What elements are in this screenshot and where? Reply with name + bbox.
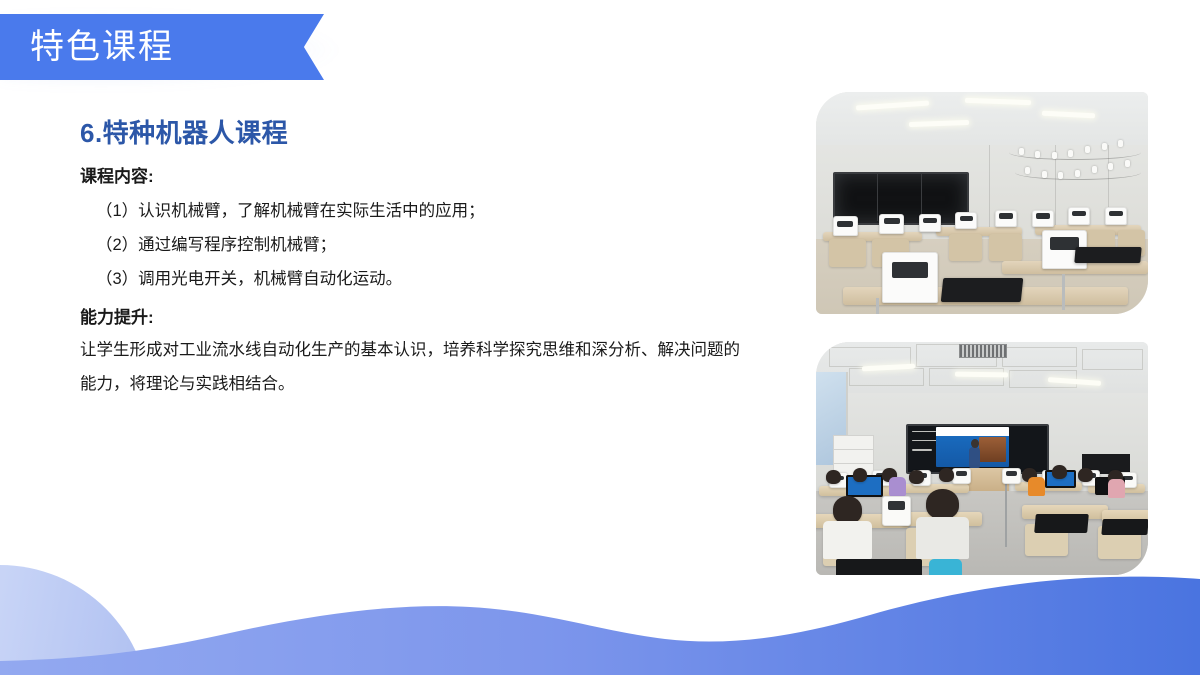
classroom-illustration-2 [816, 342, 1148, 575]
student-head [909, 470, 924, 484]
student-head [1078, 468, 1093, 482]
chair [949, 234, 982, 261]
laptop [1074, 247, 1142, 263]
photo-empty-robotics-classroom [816, 92, 1148, 314]
garland-figure [1058, 172, 1063, 179]
student-body-foreground [929, 559, 962, 575]
list-item: （1）认识机械臂，了解机械臂在实际生活中的应用； [80, 195, 760, 229]
content-label: 课程内容: [80, 165, 760, 189]
garland-figure [1125, 160, 1130, 167]
desk-leg [876, 298, 879, 314]
laptop [836, 559, 922, 575]
banner-title: 特色课程 [30, 30, 174, 64]
ability-label: 能力提升: [80, 306, 760, 330]
bottom-left-blob [0, 565, 150, 675]
garland-figure [1102, 143, 1107, 150]
student-head [853, 468, 868, 482]
robot-arm [919, 214, 941, 232]
robot-arm [952, 468, 971, 484]
student-head [826, 470, 841, 484]
chair [829, 239, 866, 268]
garland-figure [1019, 148, 1024, 155]
screen-image [979, 437, 1005, 462]
garland-figure [1075, 170, 1080, 177]
garland-figure [1085, 146, 1090, 153]
slide-root: 特色课程 6.特种机器人课程 课程内容: （1）认识机械臂，了解机械臂在实际生活… [0, 0, 1200, 675]
laptop [1034, 514, 1089, 533]
screen-header [936, 427, 1009, 436]
classroom-illustration-1 [816, 92, 1148, 314]
student-body [889, 477, 906, 496]
student-head-foreground [926, 489, 959, 519]
course-heading: 6.特种机器人课程 [80, 118, 760, 149]
garland-figure [1025, 167, 1030, 174]
student-body [1108, 479, 1125, 498]
garland-figure [1092, 166, 1097, 173]
laptop [941, 278, 1023, 302]
board-split [877, 172, 878, 221]
content-column: 6.特种机器人课程 课程内容: （1）认识机械臂，了解机械臂在实际生活中的应用；… [80, 118, 760, 402]
student-body-foreground [916, 517, 969, 559]
robot-arm [833, 216, 858, 236]
robot-arm [1068, 207, 1090, 225]
robot-arm [1002, 468, 1021, 484]
garland-figure [1118, 140, 1123, 147]
course-content-list: （1）认识机械臂，了解机械臂在实际生活中的应用； （2）通过编写程序控制机械臂；… [80, 195, 760, 296]
student-head [1052, 465, 1067, 479]
garland-figure [1068, 150, 1073, 157]
list-item: （2）通过编写程序控制机械臂； [80, 229, 760, 263]
student-body-foreground [823, 521, 873, 558]
robot-arm [955, 212, 977, 230]
ceiling-tile [1082, 349, 1144, 370]
robot-arm-foreground [882, 496, 911, 526]
teacher-head [971, 439, 979, 448]
garland-figure [1035, 151, 1040, 158]
robot-arm [995, 210, 1017, 228]
ceiling-tile [1002, 347, 1077, 368]
garland-figure [1108, 163, 1113, 170]
student-head-foreground [833, 496, 863, 524]
garland-figure [1042, 171, 1047, 178]
robot-arm [1032, 210, 1054, 228]
chair [989, 234, 1022, 261]
robot-arm [1105, 207, 1127, 225]
student-head [939, 468, 954, 482]
chalk-line [912, 449, 932, 451]
wave-path [0, 577, 1200, 675]
ceiling-vent [959, 344, 1007, 358]
ceiling-tile [849, 368, 924, 386]
student-body [1028, 477, 1045, 496]
teacher-body [969, 447, 981, 468]
list-item: （3）调用光电开关，机械臂自动化运动。 [80, 263, 760, 297]
robot-arm [879, 214, 904, 234]
desk-leg [1062, 274, 1065, 310]
photo-students-robotics-class [816, 342, 1148, 575]
laptop [1101, 519, 1148, 535]
ability-paragraph: 让学生形成对工业流水线自动化生产的基本认识，培养科学探究思维和深分析、解决问题的… [80, 334, 740, 402]
garland-figure [1052, 152, 1057, 159]
screen-stand [1005, 482, 1007, 547]
chalk-line [912, 431, 935, 433]
section-banner: 特色课程 [0, 14, 324, 80]
robot-arm-foreground [882, 252, 937, 303]
